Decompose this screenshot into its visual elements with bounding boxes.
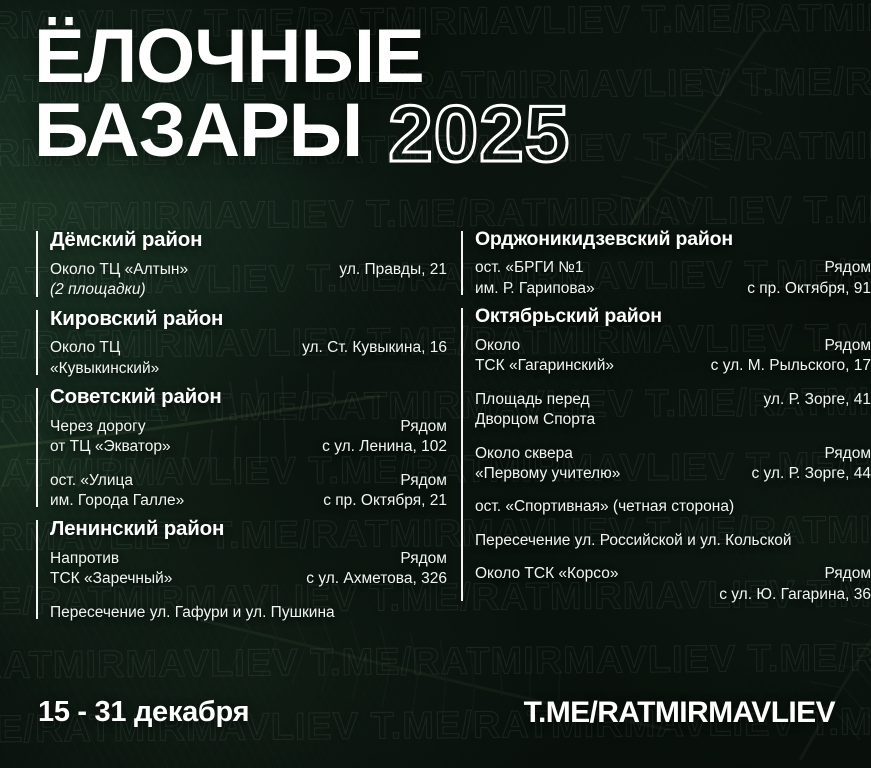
market-address: Рядом с пр. Октября, 91 [747,258,871,299]
market-entry: Площадь перед Дворцом Спортаул. Р. Зорге… [475,390,871,431]
footer-channel-link[interactable]: T.ME/RATMIRMAVLIEV [524,696,835,730]
market-place: Около ТСК «Корсо» [475,564,619,584]
market-address: ул. Р. Зорге, 41 [764,390,871,410]
market-place: ост. «Спортивная» (четная сторона) [475,497,734,517]
market-address: Рядом с ул. М. Рыльского, 17 [711,336,871,377]
market-entry: Пересечение ул. Гафури и ул. Пушкина [50,603,447,623]
market-entry: ост. «Спортивная» (четная сторона) [475,497,871,517]
market-address: ул. Правды, 21 [339,260,447,280]
market-entry: Около сквера «Первому учителю»Рядом с ул… [475,444,871,485]
district-title: Орджоникидзевский район [475,228,871,251]
headline: ЁЛОЧНЫЕ БАЗАРЫ 2025 [34,22,846,167]
district-block: Орджоникидзевский районост. «БРГИ №1 им.… [461,228,871,299]
market-address: Рядом с пр. Октября, 21 [323,471,447,512]
market-place-note: (2 площадки) [50,281,146,298]
market-address: Рядом с ул. Ахметова, 326 [306,549,447,590]
market-address: Рядом с ул. Ленина, 102 [322,417,447,458]
district-block: Кировский районОколо ТЦ «Кувыкинский»ул.… [36,307,447,380]
market-entry: ост. «БРГИ №1 им. Р. Гарипова»Рядом с пр… [475,258,871,299]
footer-dates: 15 - 31 декабря [38,696,249,729]
market-address: ул. Ст. Кувыкина, 16 [302,338,447,358]
district-title: Ленинский район [50,517,447,542]
market-address: Рядом с ул. Р. Зорге, 44 [751,444,871,485]
market-place: Пересечение ул. Гафури и ул. Пушкина [50,603,335,623]
headline-year: 2025 [388,97,570,171]
market-address: Рядом с ул. Ю. Гагарина, 36 [719,564,871,605]
district-block: Октябрьский районОколо ТСК «Гагаринский»… [461,305,871,605]
poster-root: T.ME/RATMIRMAVLIEV T.ME/RATMIRMAVLIEV T.… [0,0,871,768]
headline-line-2: БАЗАРЫ [34,96,362,167]
market-place: Около ТЦ «Алтын»(2 площадки) [50,260,188,301]
footer: 15 - 31 декабря T.ME/RATMIRMAVLIEV [0,676,871,768]
market-entry: Около ТЦ «Кувыкинский»ул. Ст. Кувыкина, … [50,338,447,379]
listings: Дёмский районОколо ТЦ «Алтын»(2 площадки… [0,228,871,668]
market-entry: Напротив ТСК «Заречный»Рядом с ул. Ахмет… [50,549,447,590]
market-place: Напротив ТСК «Заречный» [50,549,172,590]
listings-column-right: Орджоникидзевский районост. «БРГИ №1 им.… [447,228,871,668]
market-place: Пересечение ул. Российской и ул. Кольско… [475,531,792,551]
market-place: Около сквера «Первому учителю» [475,444,620,485]
market-entry: Около ТСК «Корсо»Рядом с ул. Ю. Гагарина… [475,564,871,605]
district-title: Дёмский район [50,228,447,253]
district-block: Ленинский районНапротив ТСК «Заречный»Ря… [36,517,447,623]
district-title: Октябрьский район [475,305,871,328]
market-entry: Около ТЦ «Алтын»(2 площадки)ул. Правды, … [50,260,447,301]
market-place: ост. «БРГИ №1 им. Р. Гарипова» [475,258,595,299]
market-entry: ост. «Улица им. Города Галле»Рядом с пр.… [50,471,447,512]
market-place: ост. «Улица им. Города Галле» [50,471,184,512]
district-title: Советский район [50,385,447,410]
market-place: Около ТЦ «Кувыкинский» [50,338,159,379]
market-place: Около ТСК «Гагаринский» [475,336,614,377]
headline-line-1: ЁЛОЧНЫЕ [34,22,846,93]
district-block: Советский районЧерез дорогу от ТЦ «Экват… [36,385,447,511]
market-entry: Около ТСК «Гагаринский»Рядом с ул. М. Ры… [475,336,871,377]
market-place: Площадь перед Дворцом Спорта [475,390,595,431]
market-entry: Через дорогу от ТЦ «Экватор»Рядом с ул. … [50,417,447,458]
listings-column-left: Дёмский районОколо ТЦ «Алтын»(2 площадки… [0,228,447,668]
district-title: Кировский район [50,307,447,332]
district-block: Дёмский районОколо ТЦ «Алтын»(2 площадки… [36,228,447,301]
market-entry: Пересечение ул. Российской и ул. Кольско… [475,531,871,551]
market-place: Через дорогу от ТЦ «Экватор» [50,417,171,458]
